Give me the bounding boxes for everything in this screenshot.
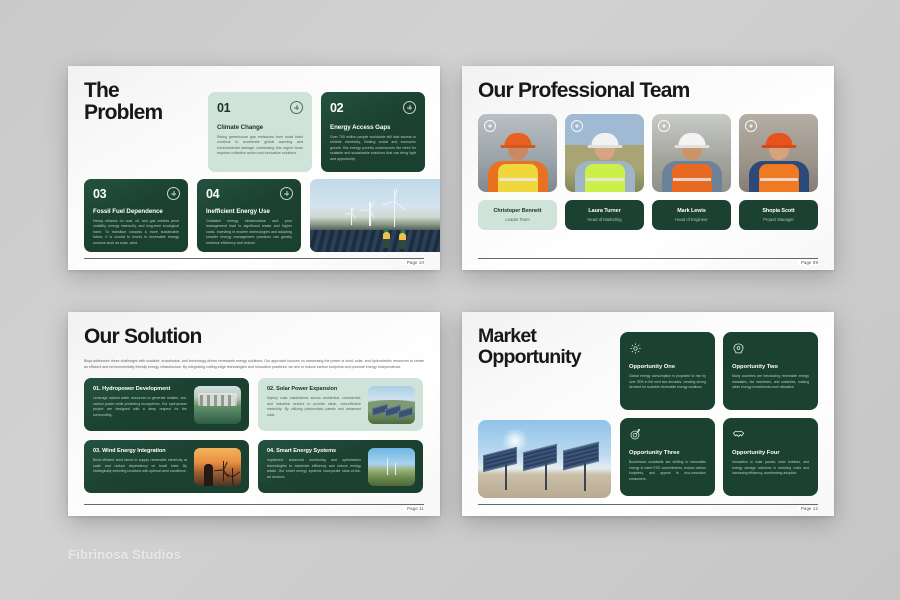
problem-cards-bottom-row: 03 Fossil Fuel Dependence Heavy reliance… bbox=[84, 179, 440, 252]
plus-icon[interactable] bbox=[658, 120, 670, 132]
target-icon bbox=[629, 428, 642, 441]
team-member-card-4[interactable]: Shopia Scott Project Manager bbox=[739, 200, 818, 230]
card-body: Implement advanced monitoring and optimi… bbox=[267, 458, 361, 480]
team-member-card-3[interactable]: Mark Lewis Head of Engineer bbox=[652, 200, 731, 230]
opportunity-card-two[interactable]: Opportunity Two Many countries are intro… bbox=[723, 332, 818, 410]
card-body: Many countries are introducing renewable… bbox=[732, 374, 809, 391]
member-name: Christoper Bennett bbox=[494, 208, 542, 214]
wind-sunset-illustration bbox=[194, 448, 241, 486]
member-role: Leader Team bbox=[505, 217, 529, 222]
member-name: Shopia Scott bbox=[762, 208, 794, 214]
plus-icon[interactable] bbox=[403, 101, 416, 114]
footer-divider bbox=[84, 258, 424, 259]
member-role: Head of Engineer bbox=[675, 217, 708, 222]
card-heading: 01. Hydropower Development bbox=[93, 386, 187, 392]
page-number: Page 10 bbox=[404, 260, 424, 265]
slide-the-problem[interactable]: The Problem 01 Climate Change Rising gre… bbox=[68, 66, 440, 270]
plus-icon[interactable] bbox=[484, 120, 496, 132]
member-name: Mark Lewis bbox=[677, 208, 706, 214]
page-title: Our Solution bbox=[84, 326, 424, 348]
solution-thumb-hydropower bbox=[194, 386, 241, 424]
solution-card-04[interactable]: 04. Smart Energy Systems Implement advan… bbox=[258, 440, 423, 493]
solution-card-03[interactable]: 03. Wind Energy Integration Build effici… bbox=[84, 440, 249, 493]
member-role: Project Manager bbox=[763, 217, 794, 222]
head-gear-icon bbox=[732, 342, 745, 355]
card-body: Heavy reliance on coal, oil, and gas cre… bbox=[93, 219, 179, 247]
problem-card-04[interactable]: 04 Inefficient Energy Use Outdated energ… bbox=[197, 179, 301, 252]
problem-card-02[interactable]: 02 Energy Access Gaps Over 750 million p… bbox=[321, 92, 425, 172]
card-heading: Climate Change bbox=[217, 124, 303, 131]
handshake-icon bbox=[732, 428, 745, 441]
market-photo-solar-array bbox=[478, 420, 611, 498]
page-number: Page 09 bbox=[798, 260, 818, 265]
card-body: Innovation in solar panels, wind turbine… bbox=[732, 460, 809, 477]
card-heading: Fossil Fuel Dependence bbox=[93, 208, 179, 215]
wind-turbine-illustration bbox=[310, 179, 440, 252]
opportunity-card-three[interactable]: Opportunity Three Businesses worldwide a… bbox=[620, 418, 715, 496]
card-heading: Inefficient Energy Use bbox=[206, 208, 292, 215]
member-role: Head of Marketing bbox=[587, 217, 621, 222]
card-heading: 04. Smart Energy Systems bbox=[267, 448, 361, 454]
footer-divider bbox=[478, 258, 818, 259]
page-number: Page 12 bbox=[798, 506, 818, 511]
opportunity-card-four[interactable]: Opportunity Four Innovation in solar pan… bbox=[723, 418, 818, 496]
solution-thumb-wind bbox=[194, 448, 241, 486]
coastal-tower-illustration bbox=[368, 448, 415, 486]
problem-cards-top-row: 01 Climate Change Rising greenhouse gas … bbox=[208, 92, 425, 172]
opportunity-card-one[interactable]: Opportunity One Global energy consumptio… bbox=[620, 332, 715, 410]
footer-divider bbox=[84, 504, 424, 505]
plus-icon[interactable] bbox=[167, 187, 180, 200]
team-photo-1[interactable] bbox=[478, 114, 557, 192]
team-name-row: Christoper Bennett Leader Team Laura Tur… bbox=[478, 200, 818, 230]
plus-icon[interactable] bbox=[571, 120, 583, 132]
problem-photo-wind-farm bbox=[310, 179, 440, 252]
team-member-card-1[interactable]: Christoper Bennett Leader Team bbox=[478, 200, 557, 230]
slide-our-solution[interactable]: Our Solution Bluja addresses these chall… bbox=[68, 312, 440, 516]
footer-divider bbox=[478, 504, 818, 505]
card-body: Businesses worldwide are shifting to ren… bbox=[629, 460, 706, 483]
opportunity-card-grid: Opportunity One Global energy consumptio… bbox=[620, 332, 818, 496]
watermark-text: Fibrinosa Studios bbox=[68, 547, 181, 562]
team-photo-2[interactable] bbox=[565, 114, 644, 192]
slide-our-professional-team[interactable]: Our Professional Team bbox=[462, 66, 834, 270]
slide-deck-preview: The Problem 01 Climate Change Rising gre… bbox=[0, 0, 900, 600]
card-body: Leverage natural water resources to gene… bbox=[93, 396, 187, 418]
card-heading: 03. Wind Energy Integration bbox=[93, 448, 187, 454]
problem-card-01[interactable]: 01 Climate Change Rising greenhouse gas … bbox=[208, 92, 312, 172]
card-heading: Opportunity One bbox=[629, 364, 706, 370]
problem-card-03[interactable]: 03 Fossil Fuel Dependence Heavy reliance… bbox=[84, 179, 188, 252]
card-heading: Opportunity Three bbox=[629, 450, 706, 456]
card-heading: Energy Access Gaps bbox=[330, 124, 416, 131]
plus-icon[interactable] bbox=[290, 101, 303, 114]
team-photo-3[interactable] bbox=[652, 114, 731, 192]
card-heading: Opportunity Four bbox=[732, 450, 809, 456]
solution-intro-paragraph: Bluja addresses these challenges with sc… bbox=[84, 358, 424, 370]
card-heading: Opportunity Two bbox=[732, 364, 809, 370]
solution-thumb-solar bbox=[368, 386, 415, 424]
team-member-card-2[interactable]: Laura Turner Head of Marketing bbox=[565, 200, 644, 230]
card-body: Deploy solar installations across reside… bbox=[267, 396, 361, 418]
solution-thumb-smart-energy bbox=[368, 448, 415, 486]
card-body: Global energy consumption is projected t… bbox=[629, 374, 706, 391]
plus-icon[interactable] bbox=[745, 120, 757, 132]
solar-field-illustration bbox=[368, 386, 415, 424]
card-body: Over 750 million people worldwide still … bbox=[330, 135, 416, 163]
team-photo-row bbox=[478, 114, 818, 192]
solar-array-illustration bbox=[478, 420, 611, 498]
card-body: Rising greenhouse gas emissions from fos… bbox=[217, 135, 303, 158]
slide-market-opportunity[interactable]: Market Opportunity Opportunity One Globa… bbox=[462, 312, 834, 516]
member-name: Laura Turner bbox=[588, 208, 620, 214]
card-body: Outdated energy infrastructure and poor … bbox=[206, 219, 292, 247]
gear-icon bbox=[629, 342, 642, 355]
card-body: Build efficient wind farms to supply ren… bbox=[93, 458, 187, 475]
team-photo-4[interactable] bbox=[739, 114, 818, 192]
card-heading: 02. Solar Power Expansion bbox=[267, 386, 361, 392]
solution-card-02[interactable]: 02. Solar Power Expansion Deploy solar i… bbox=[258, 378, 423, 431]
page-number: Page 11 bbox=[404, 506, 424, 511]
plus-icon[interactable] bbox=[280, 187, 293, 200]
hydro-dam-illustration bbox=[194, 386, 241, 424]
solution-card-01[interactable]: 01. Hydropower Development Leverage natu… bbox=[84, 378, 249, 431]
page-title: Our Professional Team bbox=[478, 80, 818, 102]
solution-card-grid: 01. Hydropower Development Leverage natu… bbox=[84, 378, 423, 493]
